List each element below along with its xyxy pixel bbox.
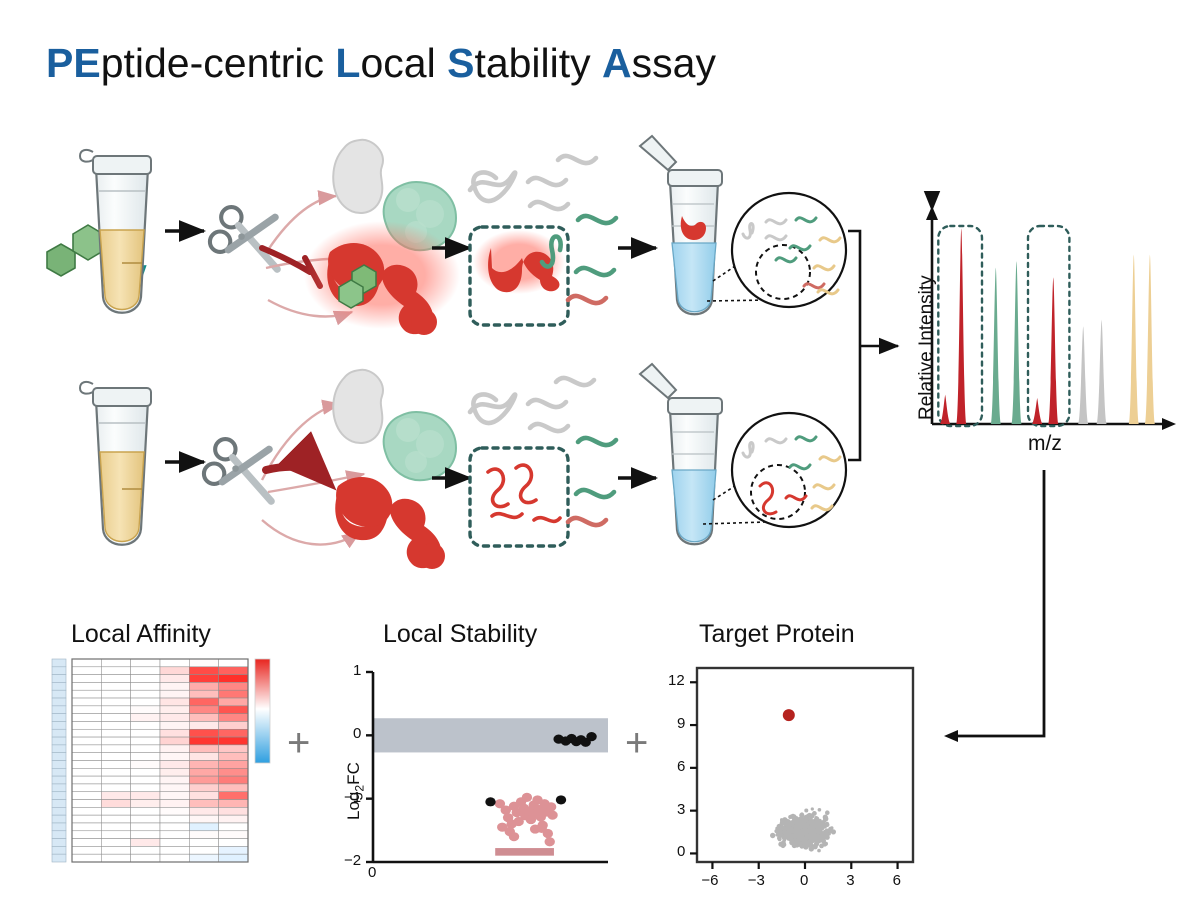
volcano-point [808, 829, 812, 833]
volcano-point [793, 831, 797, 835]
volcano-point [815, 824, 820, 829]
volcano-point [819, 839, 823, 843]
volcano-point [791, 826, 796, 831]
volcano-point [803, 842, 806, 845]
volcano-point [803, 828, 808, 833]
volcano-point [801, 825, 806, 830]
volcano-point [813, 827, 817, 831]
volcano-point [807, 822, 810, 825]
volcano-point [811, 821, 816, 826]
volcano-point [804, 809, 808, 813]
offtarget-protein-green [384, 182, 456, 250]
volcano-point [819, 836, 823, 840]
volcano-point [794, 830, 799, 835]
volcano-point [807, 836, 812, 841]
volcano-point [800, 830, 805, 835]
volcano-point [803, 823, 808, 828]
volcano-point [792, 827, 795, 830]
volcano-point [801, 824, 806, 829]
volcano-point [825, 835, 830, 840]
volcano-point [799, 831, 803, 835]
volcano-point [803, 836, 806, 839]
volcano-point [802, 838, 806, 842]
volcano-point [805, 835, 809, 839]
volcano-point [803, 827, 808, 832]
volcano-point [813, 822, 818, 827]
volcano-point [800, 831, 805, 836]
volcano-point [803, 832, 807, 836]
volcano-point [785, 832, 790, 837]
volcano-point [793, 821, 798, 826]
volcano-point [780, 826, 785, 831]
volcano-point [793, 836, 797, 840]
protected-region-box [470, 227, 568, 325]
heatmap-cell [131, 690, 160, 698]
volcano-point [797, 817, 802, 822]
volcano-point [821, 839, 826, 844]
ms-peak-traces [940, 229, 1155, 424]
volcano-point [782, 838, 786, 842]
volcano-point [816, 830, 820, 834]
volcano-point [825, 833, 829, 837]
volcano-point [798, 824, 803, 829]
heatmap-annotation-cell [52, 675, 66, 683]
volcano-point [821, 832, 825, 836]
title-text: tability [474, 40, 602, 86]
volcano-point [813, 828, 816, 831]
stability-point-pink [501, 805, 511, 814]
stability-point-pink [545, 837, 555, 846]
volcano-point [801, 829, 805, 833]
volcano-point [812, 825, 817, 830]
volcano-point [793, 832, 796, 835]
volcano-point [809, 822, 814, 827]
volcano-point [817, 823, 821, 827]
panel-title-local-affinity: Local Affinity [71, 620, 211, 649]
volcano-point [800, 834, 804, 838]
volcano-point [794, 833, 797, 836]
volcano-point [800, 825, 805, 830]
volcano-point [797, 829, 801, 833]
heatmap-cell [160, 807, 189, 815]
heatmap-cell [219, 690, 248, 698]
volcano-point [809, 833, 813, 837]
volcano-point [795, 819, 800, 824]
volcano-point [811, 831, 816, 836]
heatmap-cell [72, 675, 101, 683]
volcano-point [809, 828, 814, 833]
stability-point-pink [529, 800, 539, 809]
heatmap-cell [189, 737, 218, 745]
volcano-point [800, 822, 804, 826]
heatmap-cell [219, 815, 248, 823]
heatmap-cell [160, 667, 189, 675]
volcano-point [804, 819, 809, 824]
volcano-point [802, 828, 806, 832]
volcano-point [796, 825, 800, 829]
volcano-point [791, 827, 796, 832]
volcano-point [779, 827, 784, 832]
volcano-point [806, 827, 811, 832]
volcano-point [785, 834, 789, 838]
volcano-point [791, 819, 795, 823]
volcano-point [810, 831, 814, 835]
workflow-schematic [0, 0, 1200, 916]
sample-tube-treated [80, 150, 151, 313]
volcano-point [794, 825, 798, 829]
heatmap-cell [101, 784, 130, 792]
volcano-point [831, 829, 836, 834]
volcano-point [795, 825, 798, 828]
volcano-point [818, 808, 822, 812]
heatmap-cell [101, 675, 130, 683]
volcano-point [783, 826, 787, 830]
volcano-point [810, 838, 815, 843]
stability-point-pink [532, 795, 542, 804]
volcano-point [801, 836, 805, 840]
volcano-point [798, 834, 802, 838]
heatmap-cell [72, 823, 101, 831]
heatmap-cell [160, 831, 189, 839]
volcano-point [788, 833, 792, 837]
volcano-point [814, 816, 817, 819]
volcano-point [806, 833, 810, 837]
volcano-point [801, 834, 806, 839]
volcano-point [813, 819, 818, 824]
volcano-point [792, 817, 797, 822]
volcano-point [799, 824, 803, 828]
volcano-point [794, 822, 799, 827]
local-affinity-heatmap [0, 0, 1200, 916]
volcano-point [805, 830, 809, 834]
heatmap-cell [72, 792, 101, 800]
volcano-point [816, 835, 821, 840]
volcano-point [806, 825, 810, 829]
volcano-point [806, 814, 811, 819]
volcano-point [795, 831, 799, 835]
heatmap-cell [101, 854, 130, 862]
volcano-point [803, 822, 807, 826]
volcano-point [818, 831, 823, 836]
volcano-point [798, 823, 803, 828]
heatmap-annotation-cell [52, 682, 66, 690]
volcano-point [806, 832, 810, 836]
volcano-point [788, 822, 793, 827]
heatmap-cell [72, 815, 101, 823]
volcano-point [792, 830, 795, 833]
volcano-point [828, 827, 832, 831]
volcano-point [792, 843, 797, 848]
volcano-point [805, 828, 810, 833]
volcano-y-tick-label: 12 [668, 672, 685, 689]
digest-arrow [262, 404, 340, 480]
heatmap-cell [131, 846, 160, 854]
volcano-point [789, 838, 793, 842]
volcano-point [807, 825, 810, 828]
volcano-point [808, 821, 812, 825]
volcano-point [794, 826, 798, 830]
volcano-point [825, 832, 829, 836]
volcano-point [809, 831, 814, 836]
volcano-point [816, 835, 820, 839]
volcano-point [804, 830, 809, 835]
volcano-point [806, 826, 810, 830]
volcano-point [804, 825, 808, 829]
volcano-point [797, 822, 800, 825]
title-text: ocal [360, 40, 447, 86]
heatmap-cell [189, 792, 218, 800]
volcano-point [806, 821, 811, 826]
volcano-point [794, 836, 798, 840]
volcano-point [808, 833, 812, 837]
title-accent-letter: PE [46, 40, 101, 86]
volcano-point [791, 833, 796, 838]
volcano-point [790, 826, 794, 830]
stability-point-pink [536, 812, 546, 821]
volcano-point [795, 824, 798, 827]
stability-point-pink [506, 819, 516, 828]
volcano-point [792, 835, 796, 839]
volcano-point [805, 819, 809, 823]
volcano-point [796, 843, 800, 847]
heatmap-annotation-cell [52, 761, 66, 769]
volcano-point [792, 819, 796, 823]
heatmap-cell [219, 667, 248, 675]
ms-peak [1032, 398, 1042, 424]
volcano-point [815, 822, 819, 826]
stability-point-pink [537, 821, 547, 830]
heatmap-cell [131, 807, 160, 815]
volcano-point [816, 835, 820, 839]
heatmap-cell [219, 737, 248, 745]
volcano-point [823, 816, 828, 821]
volcano-point [807, 828, 812, 833]
volcano-point [817, 839, 821, 843]
volcano-point [806, 830, 810, 834]
heatmap-cell [131, 721, 160, 729]
volcano-point [789, 830, 793, 834]
heatmap-cell [189, 682, 218, 690]
volcano-point [806, 833, 809, 836]
volcano-point [800, 826, 805, 831]
volcano-point [793, 829, 798, 834]
volcano-point [786, 833, 790, 837]
volcano-point [810, 829, 814, 833]
volcano-point [816, 827, 820, 831]
heatmap-cell [101, 659, 130, 667]
volcano-point [798, 824, 803, 829]
volcano-point [802, 831, 807, 836]
volcano-point [809, 813, 814, 818]
stability-point-pink [519, 804, 529, 813]
heatmap-cell [101, 768, 130, 776]
volcano-point [801, 830, 805, 834]
volcano-point [796, 836, 801, 841]
volcano-point [807, 819, 811, 823]
volcano-point [809, 830, 814, 835]
heatmap-cell [160, 682, 189, 690]
heatmap-cell [219, 831, 248, 839]
separator-plus-1: + [287, 723, 310, 763]
volcano-point [790, 834, 793, 837]
volcano-point [788, 828, 793, 833]
volcano-point [797, 823, 802, 828]
volcano-point [808, 830, 812, 834]
stability-point-black [566, 734, 576, 743]
heatmap-cell [72, 800, 101, 808]
volcano-point [804, 822, 809, 827]
volcano-point [803, 821, 806, 824]
volcano-point [799, 831, 804, 836]
volcano-point [793, 838, 798, 843]
volcano-point [788, 833, 791, 836]
ms-peak [1048, 277, 1058, 424]
volcano-point [792, 822, 795, 825]
volcano-point [786, 822, 790, 826]
volcano-point [790, 827, 794, 831]
volcano-point [802, 821, 807, 826]
volcano-point [806, 821, 811, 826]
heatmap-cell [160, 753, 189, 761]
volcano-point [782, 827, 786, 831]
volcano-point [803, 844, 808, 849]
volcano-point [796, 825, 800, 829]
heatmap-cell [72, 698, 101, 706]
volcano-point [811, 832, 814, 835]
volcano-point [792, 823, 797, 828]
volcano-point [796, 830, 800, 834]
volcano-point [799, 830, 803, 834]
volcano-point [817, 820, 822, 825]
volcano-point [812, 832, 816, 836]
volcano-point [803, 830, 808, 835]
volcano-point [805, 823, 809, 827]
volcano-point [799, 820, 804, 825]
volcano-point [813, 835, 818, 840]
volcano-point [800, 838, 804, 842]
title-accent-letter: A [602, 40, 632, 86]
zoom-circle-control [703, 413, 846, 527]
volcano-point [797, 829, 800, 832]
heatmap-cell [219, 721, 248, 729]
volcano-point [796, 838, 801, 843]
volcano-point [818, 823, 822, 827]
ms-peak [940, 395, 950, 424]
heatmap-annotation-cell [52, 667, 66, 675]
volcano-point [796, 829, 800, 833]
heatmap-cell [219, 823, 248, 831]
volcano-point [811, 830, 816, 835]
volcano-point [784, 833, 787, 836]
volcano-point [811, 829, 816, 834]
stability-point-pink [509, 802, 519, 811]
volcano-point [803, 822, 807, 826]
volcano-point [808, 833, 813, 838]
volcano-point [814, 841, 819, 846]
volcano-point [795, 820, 799, 824]
digested-target-peptides [488, 465, 560, 521]
volcano-point [785, 828, 789, 832]
volcano-point [807, 825, 811, 829]
volcano-point [825, 810, 830, 815]
volcano-point [824, 842, 828, 846]
volcano-point [812, 830, 817, 835]
heatmap-cell [101, 682, 130, 690]
volcano-point [796, 823, 801, 828]
volcano-point [800, 834, 803, 837]
volcano-point [808, 832, 812, 836]
volcano-point [788, 815, 792, 819]
volcano-point [816, 829, 820, 833]
volcano-point [792, 828, 796, 832]
heatmap-cell [101, 706, 130, 714]
volcano-point [788, 828, 792, 832]
volcano-point [824, 833, 828, 837]
volcano-point [810, 827, 815, 832]
volcano-point [807, 834, 811, 838]
volcano-point [806, 829, 810, 833]
volcano-point [803, 836, 806, 839]
volcano-point [816, 839, 820, 843]
volcano-point [811, 834, 816, 839]
heatmap-cell [219, 682, 248, 690]
heatmap-cell [160, 737, 189, 745]
volcano-point [793, 828, 798, 833]
volcano-point [804, 821, 808, 825]
stability-point-pink [509, 832, 519, 841]
volcano-point [805, 833, 810, 838]
volcano-point [810, 821, 814, 825]
volcano-point [807, 833, 810, 836]
volcano-point [803, 835, 807, 839]
volcano-point [819, 825, 823, 829]
heatmap-cell [189, 706, 218, 714]
volcano-point [798, 835, 802, 839]
volcano-point [804, 841, 808, 845]
volcano-point [777, 832, 782, 837]
ms-peak [991, 268, 1001, 424]
volcano-point [801, 819, 805, 823]
volcano-point [804, 822, 807, 825]
heatmap-annotation-cell [52, 745, 66, 753]
volcano-point [805, 834, 809, 838]
volcano-point [800, 833, 804, 837]
volcano-point [799, 836, 804, 841]
volcano-point [798, 835, 803, 840]
stability-point-black [556, 795, 566, 804]
volcano-point [809, 824, 814, 829]
volcano-point [803, 834, 807, 838]
heatmap-cell [72, 729, 101, 737]
volcano-point [827, 832, 831, 836]
volcano-point [803, 824, 807, 828]
volcano-point [807, 835, 811, 839]
volcano-point [799, 834, 803, 838]
volcano-point [805, 829, 810, 834]
volcano-point [799, 826, 804, 831]
ms-peak [1012, 261, 1022, 424]
volcano-point [800, 842, 803, 845]
volcano-point [800, 835, 805, 840]
volcano-point [778, 842, 783, 847]
volcano-point [792, 829, 797, 834]
volcano-point [801, 835, 805, 839]
volcano-point [807, 833, 811, 837]
volcano-point [800, 832, 803, 835]
volcano-point [807, 823, 810, 826]
volcano-point [795, 829, 800, 834]
heatmap-cell [101, 831, 130, 839]
